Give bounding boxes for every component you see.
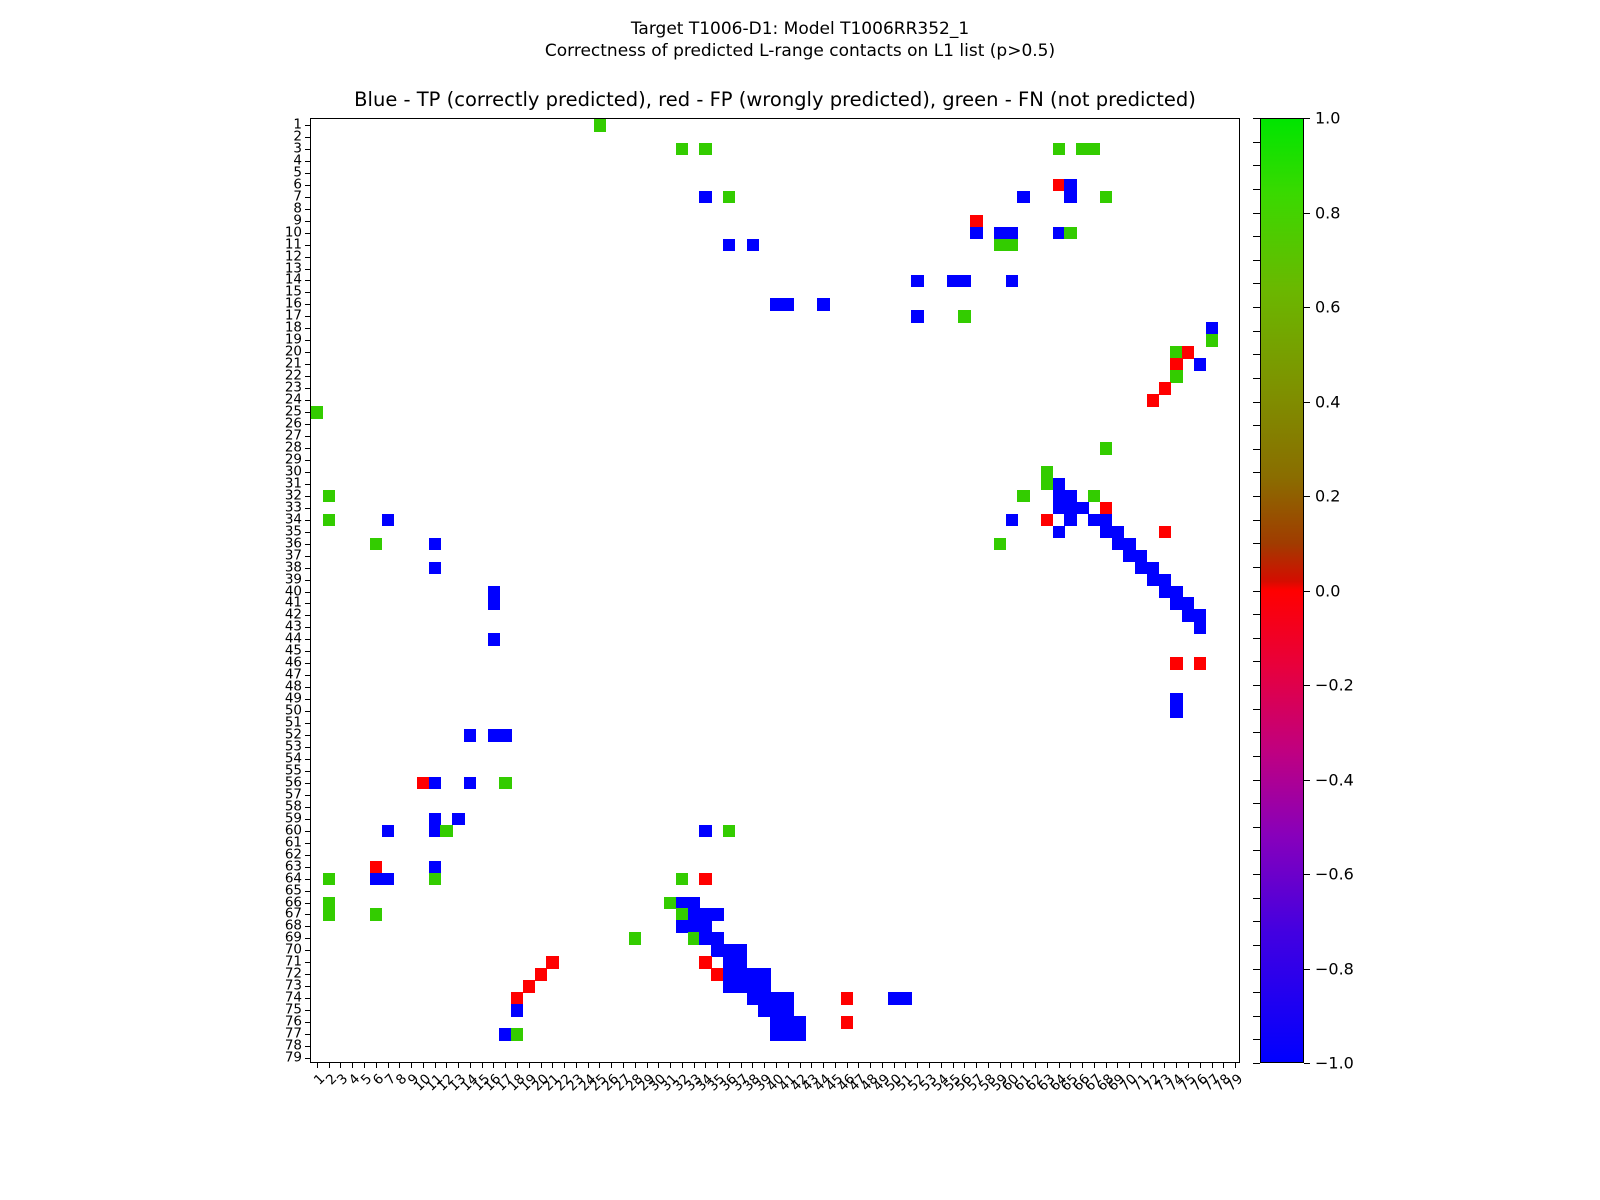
contact-cell [699,932,711,945]
x-tick-mark [1000,1062,1001,1068]
colorbar-minor-tick [1253,331,1260,332]
contact-cell [994,538,1006,551]
colorbar-tick-mark [1304,118,1310,119]
y-tick-mark [305,986,311,987]
y-tick-mark [305,245,311,246]
contact-cell [499,777,511,790]
y-tick-mark [305,891,311,892]
contact-cell [699,956,711,969]
contact-cell [735,980,747,993]
x-tick-mark [847,1062,848,1068]
contact-cell [1076,502,1088,515]
colorbar-minor-tick [1253,827,1260,828]
x-tick-mark [717,1062,718,1068]
contact-cell [1100,514,1112,527]
x-tick-mark [517,1062,518,1068]
contact-cell [1135,550,1147,563]
y-tick-mark [305,508,311,509]
contact-cell [1076,143,1088,156]
contact-cell [370,538,382,551]
figure-suptitle-line-1: Target T1006-D1: Model T1006RR352_1 [0,18,1600,40]
contact-cell [1147,394,1159,407]
x-tick-mark [905,1062,906,1068]
colorbar-minor-tick [1253,189,1260,190]
colorbar-minor-tick [1253,803,1260,804]
x-tick-mark [752,1062,753,1068]
y-tick-mark [305,926,311,927]
x-tick-mark [411,1062,412,1068]
contact-cell [770,1028,782,1041]
x-tick-mark [1153,1062,1154,1068]
contact-cell [676,920,688,933]
y-tick-mark [305,962,311,963]
contact-cell [1147,562,1159,575]
colorbar-minor-tick [1253,1039,1260,1040]
contact-cell [1194,621,1206,634]
contact-cell [958,275,970,288]
x-tick-mark [564,1062,565,1068]
y-tick-mark [305,639,311,640]
contact-cell [1112,538,1124,551]
contact-cell [711,968,723,981]
x-tick-mark [470,1062,471,1068]
contact-cell [1088,514,1100,527]
y-tick-mark [305,699,311,700]
contact-cell [735,956,747,969]
contact-cell [699,873,711,886]
y-tick-mark [305,1034,311,1035]
x-tick-mark [1129,1062,1130,1068]
x-tick-mark [764,1062,765,1068]
contact-cell [1112,526,1124,539]
y-tick-mark [305,807,311,808]
colorbar-tick-mark [1304,213,1310,214]
y-tick-mark [305,352,311,353]
colorbar-tick-label: −1.0 [1315,1054,1354,1073]
x-tick-mark [858,1062,859,1068]
y-tick-mark [305,125,311,126]
contact-cell [888,992,900,1005]
colorbar-minor-tick [1253,756,1260,757]
contact-cell [488,729,500,742]
contact-cell [1194,609,1206,622]
y-tick-mark [305,651,311,652]
y-tick-mark [305,1058,311,1059]
contact-cell [523,980,535,993]
contact-cell [688,920,700,933]
contact-cell [747,239,759,252]
contact-cell [511,992,523,1005]
colorbar-tick-mark [1304,1063,1310,1064]
contact-cell [1123,538,1135,551]
colorbar-minor-tick [1253,567,1260,568]
colorbar-tick-label: 0.4 [1315,392,1340,411]
contact-cell [1206,322,1218,335]
colorbar-minor-tick [1253,638,1260,639]
x-tick-mark [1188,1062,1189,1068]
contact-cell [1170,597,1182,610]
contact-cell [723,980,735,993]
y-tick-mark [305,520,311,521]
y-tick-mark [305,400,311,401]
contact-cell [782,298,794,311]
contact-cell [1006,514,1018,527]
x-tick-mark [964,1062,965,1068]
x-tick-mark [1117,1062,1118,1068]
y-tick-mark [305,914,311,915]
colorbar-minor-tick [1253,543,1260,544]
y-tick-mark [305,556,311,557]
x-tick-mark [388,1062,389,1068]
y-tick-mark [305,1022,311,1023]
colorbar-minor-tick [1253,283,1260,284]
y-tick-mark [305,221,311,222]
contact-cell [770,1016,782,1029]
contact-cell [900,992,912,1005]
x-tick-mark [776,1062,777,1068]
colorbar-tick-label: 0.8 [1315,203,1340,222]
colorbar-minor-tick [1253,685,1260,686]
contact-cell [723,825,735,838]
x-tick-mark [505,1062,506,1068]
x-tick-mark [705,1062,706,1068]
x-tick-mark [870,1062,871,1068]
y-tick-mark [305,843,311,844]
x-tick-mark [611,1062,612,1068]
colorbar-tick-mark [1304,874,1310,875]
colorbar-minor-tick [1253,945,1260,946]
x-tick-mark [364,1062,365,1068]
colorbar-minor-tick [1253,307,1260,308]
contact-cell [758,980,770,993]
y-tick-mark [305,615,311,616]
colorbar-minor-tick [1253,402,1260,403]
contact-cell [1053,526,1065,539]
contact-cell [817,298,829,311]
contact-cell [488,597,500,610]
contact-cell [429,777,441,790]
y-tick-mark [305,867,311,868]
contact-cell [1006,239,1018,252]
x-tick-mark [1106,1062,1107,1068]
x-tick-mark [729,1062,730,1068]
x-tick-mark [882,1062,883,1068]
x-tick-mark [823,1062,824,1068]
contact-cell [1100,526,1112,539]
contact-cell [323,873,335,886]
contact-cell [958,310,970,323]
y-tick-mark [305,472,311,473]
colorbar-minor-tick [1253,213,1260,214]
x-tick-mark [317,1062,318,1068]
contact-cell [464,777,476,790]
contact-cell [1041,478,1053,491]
contact-cell [1053,179,1065,192]
colorbar-minor-tick [1253,921,1260,922]
contact-cell [770,298,782,311]
contact-cell [440,825,452,838]
contact-cell [1064,502,1076,515]
contact-cell [629,932,641,945]
x-tick-mark [446,1062,447,1068]
colorbar-tick-mark [1304,780,1310,781]
y-tick-mark [305,711,311,712]
x-tick-mark [953,1062,954,1068]
x-tick-mark [1070,1062,1071,1068]
contact-cell [947,275,959,288]
contact-cell [770,992,782,1005]
contact-cell [1170,657,1182,670]
colorbar-tick-mark [1304,402,1310,403]
y-tick-mark [305,304,311,305]
contact-cell [499,1028,511,1041]
contact-cell [1194,657,1206,670]
y-tick-mark [305,735,311,736]
colorbar-tick-mark [1304,685,1310,686]
x-tick-mark [340,1062,341,1068]
colorbar-minor-tick [1253,732,1260,733]
colorbar-minor-tick [1253,354,1260,355]
contact-cell [711,944,723,957]
contact-cell [699,908,711,921]
x-tick-mark [576,1062,577,1068]
contact-cell [370,861,382,874]
contact-cell [429,813,441,826]
x-tick-mark [894,1062,895,1068]
contact-cell [794,1028,806,1041]
colorbar-tick-label: 0.6 [1315,298,1340,317]
y-tick-mark [305,197,311,198]
x-tick-mark [929,1062,930,1068]
contact-cell [723,239,735,252]
x-tick-mark [493,1062,494,1068]
contact-cell [758,992,770,1005]
colorbar-minor-tick [1253,165,1260,166]
contact-cell [688,908,700,921]
axes-title-legend-text: Blue - TP (correctly predicted), red - F… [310,88,1240,111]
y-tick-mark [305,137,311,138]
contact-cell [1159,382,1171,395]
y-tick-mark [305,938,311,939]
contact-cell [723,191,735,204]
colorbar-tick-mark [1304,969,1310,970]
y-tick-mark [305,998,311,999]
contact-cell [1194,358,1206,371]
y-tick-label: 79 [285,1052,302,1065]
y-tick-mark [305,161,311,162]
x-tick-mark [352,1062,353,1068]
contact-cell [911,310,923,323]
y-tick-mark [305,603,311,604]
contact-cell [452,813,464,826]
colorbar-minor-tick [1253,236,1260,237]
contact-cell [1064,227,1076,240]
contact-cell [1017,490,1029,503]
y-tick-mark [305,759,311,760]
contact-cell [688,932,700,945]
figure-title-block: Target T1006-D1: Model T1006RR352_1 Corr… [0,18,1600,62]
contact-cell [323,897,335,910]
contact-cell [1041,514,1053,527]
x-tick-mark [647,1062,648,1068]
contact-map-cells [311,119,1239,1062]
colorbar-minor-tick [1253,1016,1260,1017]
y-tick-mark [305,292,311,293]
y-tick-mark [305,484,311,485]
y-tick-mark [305,627,311,628]
contact-cell [1006,227,1018,240]
contact-cell [429,562,441,575]
contact-cell [1053,502,1065,515]
contact-cell [1182,609,1194,622]
x-tick-mark [682,1062,683,1068]
contact-cell [1170,693,1182,706]
colorbar-tick-mark [1304,307,1310,308]
x-tick-mark [423,1062,424,1068]
contact-cell [688,897,700,910]
x-tick-mark [835,1062,836,1068]
x-tick-mark [482,1062,483,1068]
contact-cell [546,956,558,969]
x-tick-mark [1011,1062,1012,1068]
contact-cell [370,908,382,921]
colorbar-minor-tick [1253,142,1260,143]
colorbar-minor-tick [1253,425,1260,426]
contact-cell [1182,597,1194,610]
colorbar-minor-tick [1253,992,1260,993]
contact-cell [699,825,711,838]
contact-cell [676,897,688,910]
contact-cell [1064,490,1076,503]
contact-cell [794,1016,806,1029]
x-tick-mark [1094,1062,1095,1068]
contact-cell [1170,358,1182,371]
x-tick-mark [670,1062,671,1068]
colorbar-minor-tick [1253,709,1260,710]
contact-cell [723,968,735,981]
y-tick-mark [305,879,311,880]
y-tick-mark [305,950,311,951]
y-tick-mark [305,328,311,329]
y-tick-mark [305,496,311,497]
contact-cell [1064,514,1076,527]
x-tick-mark [588,1062,589,1068]
y-tick-mark [305,257,311,258]
contact-cell [758,968,770,981]
contact-cell [747,980,759,993]
colorbar-tick-mark [1304,591,1310,592]
contact-cell [1170,346,1182,359]
colorbar-minor-tick [1253,898,1260,899]
contact-cell [911,275,923,288]
contact-cell [1206,334,1218,347]
figure-suptitle-line-2: Correctness of predicted L-range contact… [0,40,1600,62]
contact-cell [1053,478,1065,491]
colorbar-minor-tick [1253,780,1260,781]
x-tick-mark [1047,1062,1048,1068]
y-tick-mark [305,424,311,425]
y-tick-mark [305,269,311,270]
colorbar-tick-label: 1.0 [1315,109,1340,128]
x-tick-mark [329,1062,330,1068]
colorbar-tick-label: −0.6 [1315,865,1354,884]
contact-cell [323,490,335,503]
colorbar-minor-tick [1253,850,1260,851]
x-tick-mark [988,1062,989,1068]
contact-cell [723,944,735,957]
y-tick-mark [305,903,311,904]
y-tick-mark [305,340,311,341]
y-tick-mark [305,974,311,975]
x-tick-mark [599,1062,600,1068]
contact-cell [323,514,335,527]
contact-cell [382,514,394,527]
contact-cell [382,873,394,886]
contact-cell [735,944,747,957]
colorbar-minor-tick [1253,614,1260,615]
contact-cell [1088,490,1100,503]
contact-map-plot-area[interactable]: 1234567891011121314151617181920212223242… [310,118,1240,1063]
x-tick-mark [1176,1062,1177,1068]
contact-cell [735,968,747,981]
y-tick-mark [305,316,311,317]
contact-cell [841,992,853,1005]
colorbar-tick-label: 0.2 [1315,487,1340,506]
colorbar[interactable]: 1.00.80.60.40.20.0−0.2−0.4−0.6−0.8−1.0 [1260,118,1304,1063]
contact-cell [370,873,382,886]
contact-cell [1170,370,1182,383]
contact-cell [429,538,441,551]
x-tick-mark [741,1062,742,1068]
x-tick-mark [552,1062,553,1068]
contact-cell [782,992,794,1005]
x-tick-mark [1200,1062,1201,1068]
contact-cell [1159,574,1171,587]
contact-cell [1100,502,1112,515]
y-tick-mark [305,747,311,748]
x-tick-mark [399,1062,400,1068]
contact-cell [970,215,982,228]
contact-cell [1006,275,1018,288]
y-tick-mark [305,173,311,174]
y-tick-mark [305,580,311,581]
contact-cell [1147,574,1159,587]
contact-cell [1170,586,1182,599]
contact-cell [711,932,723,945]
contact-cell [1064,179,1076,192]
y-tick-mark [305,280,311,281]
y-tick-mark [305,448,311,449]
y-tick-mark [305,687,311,688]
contact-cell [417,777,429,790]
colorbar-minor-tick [1253,260,1260,261]
x-tick-mark [1223,1062,1224,1068]
contact-cell [429,873,441,886]
x-tick-mark [1082,1062,1083,1068]
contact-cell [699,191,711,204]
y-tick-mark [305,364,311,365]
colorbar-minor-tick [1253,378,1260,379]
x-tick-mark [635,1062,636,1068]
contact-cell [676,908,688,921]
colorbar-minor-tick [1253,496,1260,497]
contact-cell [1017,191,1029,204]
y-tick-mark [305,855,311,856]
contact-cell [782,1028,794,1041]
y-tick-mark [305,436,311,437]
contact-cell [1064,191,1076,204]
contact-cell [994,239,1006,252]
